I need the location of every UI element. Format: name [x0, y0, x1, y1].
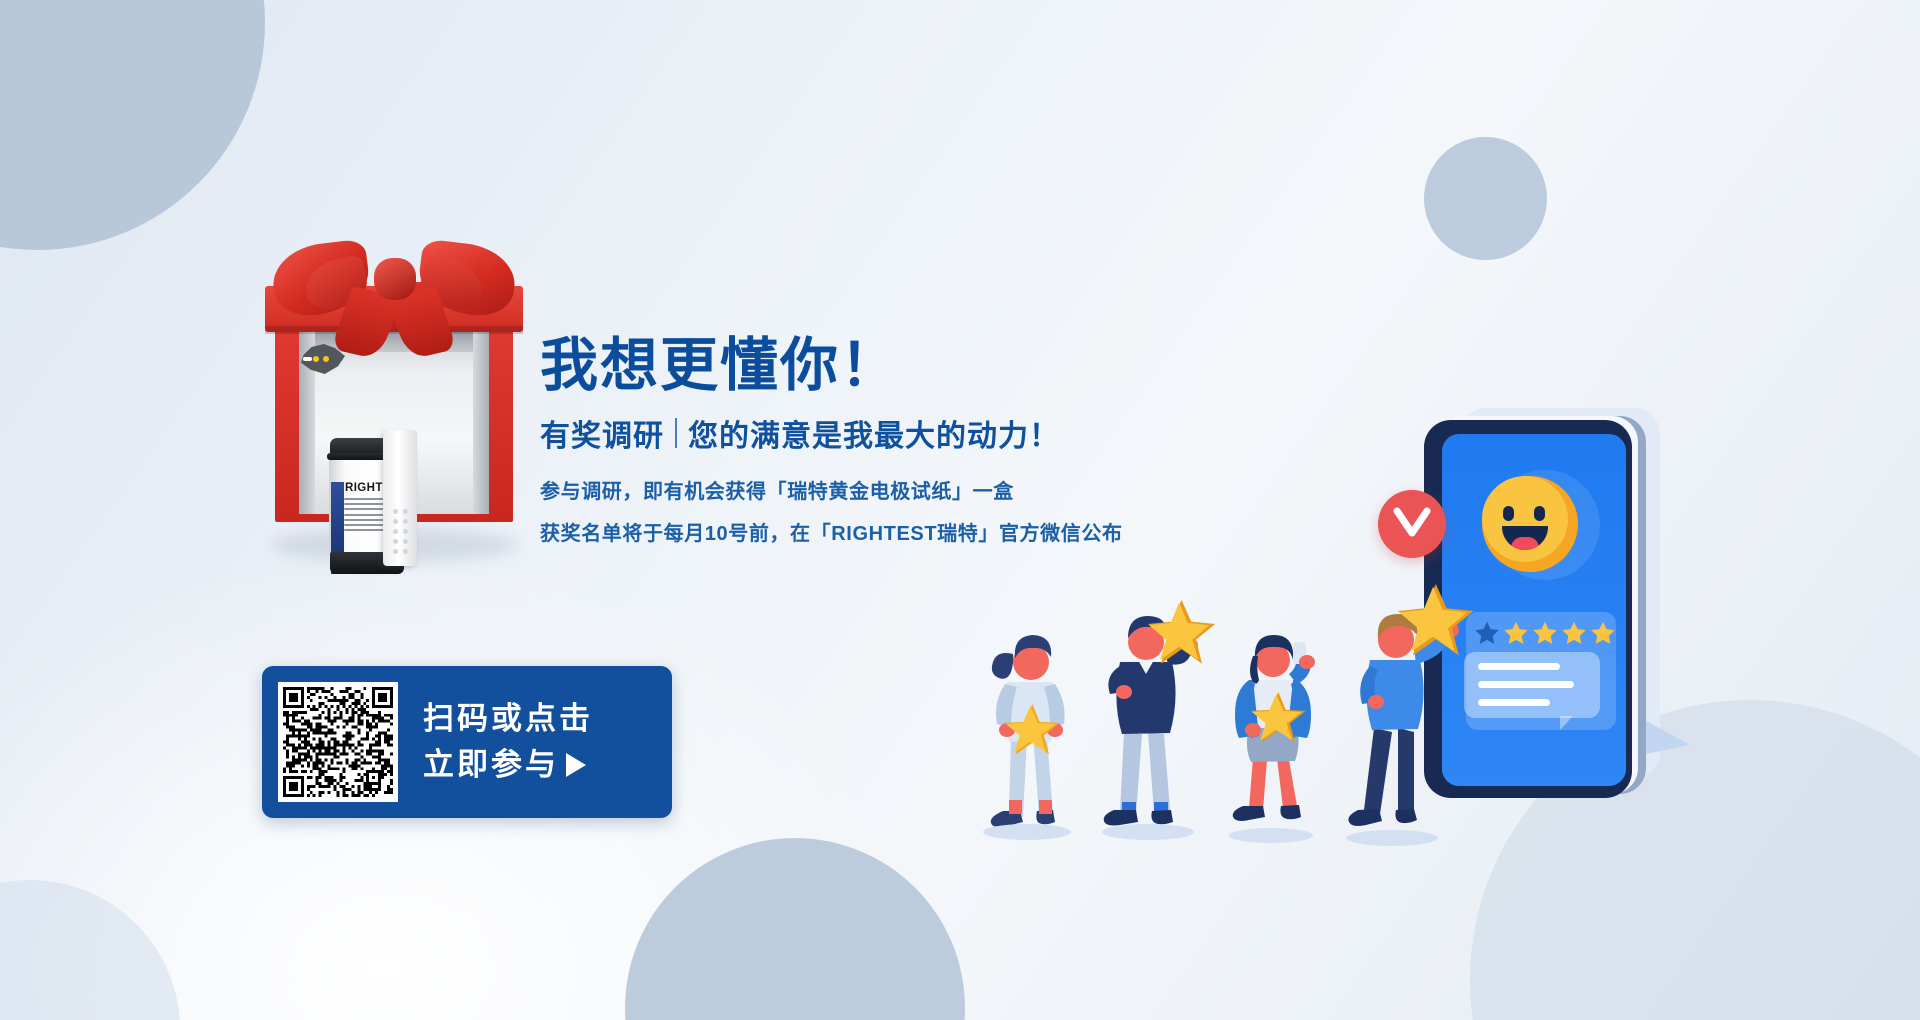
- gift-box-body: RIGHTEST: [275, 310, 513, 522]
- cta-line-2: 立即参与: [423, 742, 559, 788]
- subheadline-right: 您的满意是我最大的动力！: [688, 411, 1060, 455]
- speech-bubble-icon: [1464, 652, 1600, 718]
- gift-box-icon: RIGHTEST: [265, 238, 523, 568]
- man-lifting-star-figure: [1090, 600, 1215, 835]
- page-title: 我想更懂你！: [540, 336, 1240, 395]
- cta-line-2-row: 立即参与: [423, 742, 593, 788]
- cta-label: 扫码或点击 立即参与: [423, 696, 593, 788]
- bg-circle-top-right: [1424, 137, 1547, 260]
- star-empty-icon: [1474, 620, 1500, 646]
- bg-circle-bottom-center: [625, 838, 965, 1020]
- star-filled-icon: [1590, 620, 1616, 646]
- smiley-face-icon: [1482, 476, 1578, 572]
- person-shadow: [983, 824, 1071, 840]
- red-check-badge-icon: [1378, 490, 1446, 558]
- star-rating: [1474, 620, 1616, 646]
- smiley-mouth: [1502, 526, 1548, 550]
- copy-block: 我想更懂你！ 有奖调研 您的满意是我最大的动力！ 参与调研，即有机会获得「瑞特黄…: [540, 336, 1240, 546]
- person-man-placing-star: [1340, 598, 1470, 848]
- ribbon-bow-icon: [275, 228, 513, 338]
- person-man-lifting-star: [1090, 600, 1215, 840]
- man-placing-star-figure: [1340, 598, 1470, 843]
- bg-circle-top-left: [0, 0, 265, 250]
- star-filled-icon: [1561, 620, 1587, 646]
- test-strip-dots: [390, 506, 410, 556]
- smiley-face-front: [1482, 476, 1568, 562]
- smiley-eye-right: [1534, 506, 1545, 521]
- person-woman-on-phone: [1215, 618, 1335, 843]
- body-line-2: 获奖名单将于每月10号前，在「RIGHTEST瑞特」官方微信公布: [540, 517, 1240, 546]
- subheadline-divider: [675, 418, 677, 448]
- person-woman-with-ponytail: [975, 618, 1085, 838]
- bg-circle-bottom-left: [0, 880, 180, 1020]
- smiley-eye-left: [1503, 506, 1514, 521]
- cta-button[interactable]: 扫码或点击 立即参与: [262, 666, 672, 818]
- person-shadow: [1102, 824, 1194, 840]
- woman-with-ponytail-figure: [975, 618, 1085, 833]
- bow-knot: [374, 258, 416, 300]
- subheadline-left: 有奖调研: [540, 411, 664, 455]
- star-filled-icon: [1503, 620, 1529, 646]
- person-shadow: [1346, 830, 1438, 846]
- qr-code-icon[interactable]: [278, 682, 398, 802]
- person-shadow: [1229, 828, 1313, 843]
- promo-banner: RIGHTEST: [0, 0, 1920, 1020]
- woman-on-phone-figure: [1215, 618, 1335, 838]
- body-line-1: 参与调研，即有机会获得「瑞特黄金电极试纸」一盒: [540, 475, 1240, 504]
- test-strip-icon: [383, 430, 417, 566]
- speech-bubble-tail: [1560, 716, 1573, 730]
- cta-line-1: 扫码或点击: [423, 696, 593, 742]
- subheadline: 有奖调研 您的满意是我最大的动力！: [540, 411, 1240, 455]
- play-triangle-icon: [566, 753, 586, 777]
- smiley-tongue: [1511, 537, 1539, 550]
- gift-box-interior-right: [473, 332, 489, 514]
- star-filled-icon: [1532, 620, 1558, 646]
